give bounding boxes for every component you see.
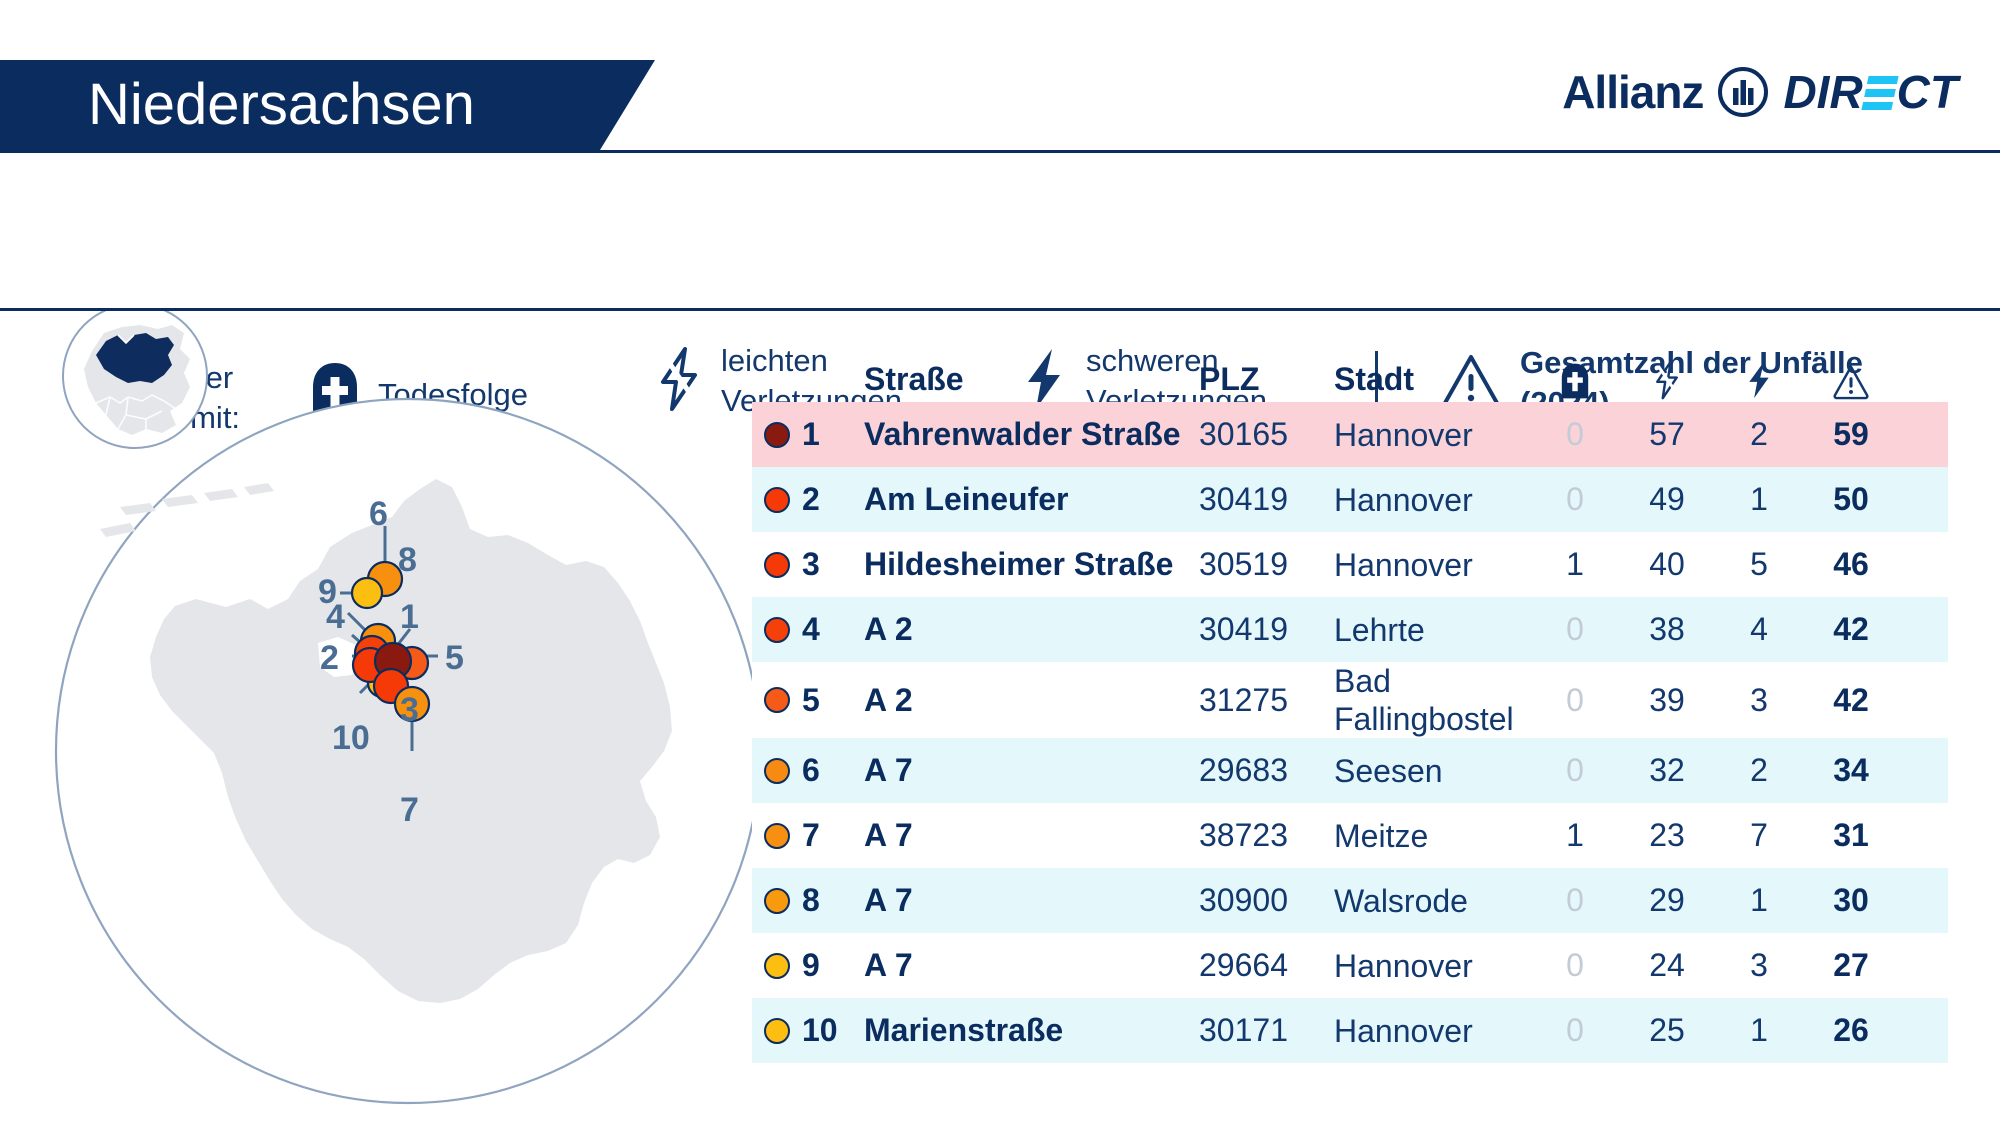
cell-street: Am Leineufer [864,481,1199,518]
cell-rank: 4 [802,611,864,648]
cell-severe-injuries: 7 [1713,817,1805,854]
cell-total: 50 [1805,481,1897,518]
table-row[interactable]: 1Vahrenwalder Straße30165Hannover057259 [752,402,1948,467]
map-pin-label-7: 7 [400,793,419,827]
cell-severe-injuries: 5 [1713,546,1805,583]
cell-city: Hannover [1334,481,1529,519]
rank-dot-cell [752,823,802,849]
table-row[interactable]: 9A 729664Hannover024327 [752,933,1948,998]
map-pin-label-10: 10 [332,721,370,755]
page-header: Niedersachsen Allianz DIRCT [0,0,2000,150]
cell-plz: 30171 [1199,1012,1334,1049]
cell-total: 42 [1805,611,1897,648]
table-row[interactable]: 10Marienstraße30171Hannover025126 [752,998,1948,1063]
legend-bar: Anzahl der Unfälle mit: Todesfolge leich… [0,153,2000,308]
cell-deaths: 0 [1529,947,1621,984]
cell-light-injuries: 23 [1621,817,1713,854]
cell-plz: 30900 [1199,882,1334,919]
cell-city: Hannover [1334,1012,1529,1050]
cell-city: Meitze [1334,817,1529,855]
table-row[interactable]: 5A 231275Bad Fallingbostel039342 [752,662,1948,738]
cell-light-injuries: 32 [1621,752,1713,789]
cell-severe-injuries: 3 [1713,947,1805,984]
table-header-row: Straße PLZ Stadt [752,330,1948,402]
page-title: Niedersachsen [88,72,475,138]
cell-severe-injuries: 2 [1713,752,1805,789]
map-pin-label-3: 3 [400,693,419,727]
cell-city: Walsrode [1334,882,1529,920]
niedersachsen-map [0,311,760,1141]
allianz-bars-icon [1717,66,1769,118]
cell-total: 42 [1805,682,1897,719]
rank-dot-cell [752,1018,802,1044]
direct-ct-text: CT [1897,66,1958,118]
table-body: 1Vahrenwalder Straße30165Hannover0572592… [752,402,1948,1063]
allianz-direct-logo: Allianz DIRCT [1562,66,1958,118]
cell-city: Hannover [1334,416,1529,454]
rank-dot-cell [752,422,802,448]
cell-plz: 30419 [1199,611,1334,648]
cell-street: Marienstraße [864,1012,1199,1049]
cell-deaths: 0 [1529,416,1621,453]
cell-deaths: 1 [1529,817,1621,854]
th-city: Stadt [1334,360,1529,402]
map-pin-label-1: 1 [400,600,419,634]
cell-street: A 2 [864,611,1199,648]
cell-street: A 7 [864,817,1199,854]
cell-city: Lehrte [1334,611,1529,649]
table-row[interactable]: 4A 230419Lehrte038442 [752,597,1948,662]
cell-severe-injuries: 2 [1713,416,1805,453]
rank-color-dot [764,1018,790,1044]
rank-dot-cell [752,953,802,979]
rank-color-dot [764,758,790,784]
rank-color-dot [764,687,790,713]
th-plz: PLZ [1199,361,1334,402]
cell-street: A 7 [864,947,1199,984]
cell-total: 59 [1805,416,1897,453]
cell-total: 31 [1805,817,1897,854]
th-light-injuries-icon [1621,360,1713,402]
cell-rank: 10 [802,1012,864,1049]
allianz-wordmark: Allianz [1562,69,1703,115]
cell-severe-injuries: 3 [1713,682,1805,719]
direct-dir-text: DIR [1783,66,1862,118]
rank-dot-cell [752,888,802,914]
cell-street: A 2 [864,682,1199,719]
cell-deaths: 1 [1529,546,1621,583]
cell-city: Bad Fallingbostel [1334,662,1529,738]
cell-light-injuries: 39 [1621,682,1713,719]
cell-street: Hildesheimer Straße [864,546,1199,583]
cell-severe-injuries: 4 [1713,611,1805,648]
cell-light-injuries: 24 [1621,947,1713,984]
cell-plz: 30165 [1199,416,1334,453]
cell-rank: 8 [802,882,864,919]
cell-severe-injuries: 1 [1713,481,1805,518]
table-row[interactable]: 6A 729683Seesen032234 [752,738,1948,803]
cell-plz: 38723 [1199,817,1334,854]
rank-color-dot [764,953,790,979]
cell-plz: 30419 [1199,481,1334,518]
rank-dot-cell [752,758,802,784]
direct-e-bars-icon [1861,76,1898,110]
cell-deaths: 0 [1529,882,1621,919]
th-total-icon [1805,363,1897,402]
cell-city: Seesen [1334,752,1529,790]
cell-severe-injuries: 1 [1713,1012,1805,1049]
cell-light-injuries: 57 [1621,416,1713,453]
cell-city: Hannover [1334,546,1529,584]
cell-rank: 7 [802,817,864,854]
cell-total: 34 [1805,752,1897,789]
cell-rank: 6 [802,752,864,789]
cell-deaths: 0 [1529,752,1621,789]
rank-color-dot [764,888,790,914]
table-row[interactable]: 3Hildesheimer Straße30519Hannover140546 [752,532,1948,597]
table-row[interactable]: 2Am Leineufer30419Hannover049150 [752,467,1948,532]
cell-light-injuries: 49 [1621,481,1713,518]
cell-deaths: 0 [1529,682,1621,719]
rank-dot-cell [752,687,802,713]
cell-severe-injuries: 1 [1713,882,1805,919]
cell-total: 27 [1805,947,1897,984]
cell-plz: 30519 [1199,546,1334,583]
rank-color-dot [764,422,790,448]
map-pin-label-4: 4 [326,600,345,634]
rank-color-dot [764,487,790,513]
accidents-table: Straße PLZ Stadt [752,330,1948,1063]
rank-dot-cell [752,617,802,643]
cell-street: A 7 [864,882,1199,919]
th-street: Straße [864,361,1199,402]
cell-street: Vahrenwalder Straße [864,416,1199,453]
map-pin-label-8: 8 [398,543,417,577]
cell-rank: 9 [802,947,864,984]
cell-plz: 31275 [1199,682,1334,719]
cell-street: A 7 [864,752,1199,789]
rank-color-dot [764,617,790,643]
cell-light-injuries: 25 [1621,1012,1713,1049]
cell-rank: 1 [802,416,864,453]
cell-light-injuries: 40 [1621,546,1713,583]
map-panel: 6 9 8 4 1 2 5 3 10 7 [0,311,760,1141]
cell-plz: 29664 [1199,947,1334,984]
cell-rank: 2 [802,481,864,518]
table-row[interactable]: 8A 730900Walsrode029130 [752,868,1948,933]
cell-deaths: 0 [1529,611,1621,648]
cell-plz: 29683 [1199,752,1334,789]
germany-inset-map [63,311,207,448]
th-deaths-icon [1529,362,1621,402]
cell-total: 26 [1805,1012,1897,1049]
cell-city: Hannover [1334,947,1529,985]
map-pin-label-2: 2 [320,641,339,675]
map-pin-label-6: 6 [369,497,388,531]
map-marker-9 [352,578,382,608]
cell-light-injuries: 38 [1621,611,1713,648]
cell-rank: 3 [802,546,864,583]
rank-color-dot [764,552,790,578]
rank-dot-cell [752,552,802,578]
cell-rank: 5 [802,682,864,719]
cell-deaths: 0 [1529,481,1621,518]
rank-dot-cell [752,487,802,513]
rank-color-dot [764,823,790,849]
direct-wordmark: DIRCT [1783,69,1958,115]
table-row[interactable]: 7A 738723Meitze123731 [752,803,1948,868]
cell-light-injuries: 29 [1621,882,1713,919]
map-pin-label-5: 5 [445,641,464,675]
cell-total: 46 [1805,546,1897,583]
cell-deaths: 0 [1529,1012,1621,1049]
cell-total: 30 [1805,882,1897,919]
th-severe-injuries-icon [1713,360,1805,402]
